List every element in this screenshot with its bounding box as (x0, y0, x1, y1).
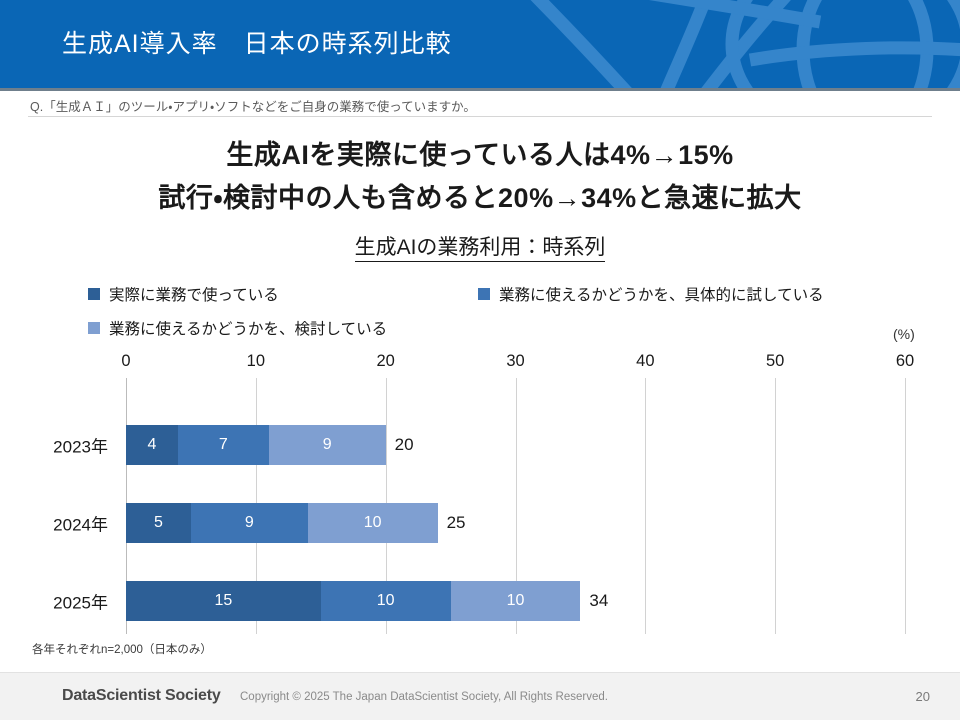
x-axis-tick-label: 40 (636, 352, 654, 371)
legend-label-1: 業務に使えるかどうかを、具体的に試している (499, 283, 824, 305)
legend-item-0: 実際に業務で使っている (88, 283, 279, 305)
x-axis-tick-label: 20 (376, 352, 394, 371)
legend-swatch-0 (88, 288, 100, 300)
bar-value-label: 10 (364, 514, 382, 532)
bar-row: 2023年47920 (0, 414, 960, 476)
headline-line-2: 試行・検討中の人も含めると20%→34%と急速に拡大 (0, 176, 960, 215)
legend-item-2: 業務に使えるかどうかを、検討している (88, 317, 387, 339)
chart-legend: 実際に業務で使っている 業務に使えるかどうかを、具体的に試している 業務に使える… (0, 283, 960, 345)
x-axis-tick-label: 60 (896, 352, 914, 371)
footer-brand: DataScientist Society (62, 687, 221, 705)
chart-title-text: 生成AIの業務利用：時系列 (355, 236, 606, 262)
legend-item-1: 業務に使えるかどうかを、具体的に試している (478, 283, 824, 305)
bar-row: 2025年15101034 (0, 570, 960, 632)
legend-label-2: 業務に使えるかどうかを、検討している (109, 317, 387, 339)
bar-value-label: 4 (148, 436, 157, 454)
bar-category-label: 2024年 (0, 511, 108, 536)
bar-segment[interactable]: 5 (126, 503, 191, 543)
bar-row: 2024年591025 (0, 492, 960, 554)
bar-segment[interactable]: 9 (269, 425, 386, 465)
bar-value-label: 15 (214, 592, 232, 610)
x-axis-tick-label: 50 (766, 352, 784, 371)
bar-value-label: 10 (507, 592, 525, 610)
bar-value-label: 5 (154, 514, 163, 532)
legend-swatch-1 (478, 288, 490, 300)
footer-copyright: Copyright © 2025 The Japan DataScientist… (240, 691, 608, 703)
bar-total-label: 25 (447, 513, 466, 533)
bar-total-label: 20 (395, 435, 414, 455)
stacked-bar[interactable]: 5910 (126, 503, 438, 543)
stacked-bar[interactable]: 479 (126, 425, 386, 465)
chart-footnote: 各年それぞれn=2,000（日本のみ） (32, 641, 212, 657)
slide-root: 生成AI導入率 日本の時系列比較 Q.「生成ＡＩ」のツール・アプリ・ソフトなどを… (0, 0, 960, 720)
globe-arcs-icon (520, 0, 960, 88)
legend-swatch-2 (88, 322, 100, 334)
bar-value-label: 10 (377, 592, 395, 610)
bar-segment[interactable]: 9 (191, 503, 308, 543)
bar-value-label: 9 (323, 436, 332, 454)
bar-value-label: 7 (219, 436, 228, 454)
question-text: Q.「生成ＡＩ」のツール・アプリ・ソフトなどをご自身の業務で使っていますか。 (30, 96, 476, 115)
bar-category-label: 2023年 (0, 433, 108, 458)
bar-segment[interactable]: 10 (451, 581, 581, 621)
x-axis-tick-label: 10 (247, 352, 265, 371)
slide-header: 生成AI導入率 日本の時系列比較 (0, 0, 960, 88)
bar-segment[interactable]: 4 (126, 425, 178, 465)
bar-segment[interactable]: 10 (321, 581, 451, 621)
header-divider (0, 88, 960, 91)
chart-plot-area: 0102030405060 2023年479202024年5910252025年… (0, 352, 960, 634)
page-number: 20 (916, 689, 930, 704)
axis-unit-label: (%) (893, 326, 915, 342)
legend-label-0: 実際に業務で使っている (109, 283, 279, 305)
bar-total-label: 34 (589, 591, 608, 611)
x-axis-tick-label: 30 (506, 352, 524, 371)
bar-segment[interactable]: 10 (308, 503, 438, 543)
stacked-bar[interactable]: 151010 (126, 581, 580, 621)
bar-segment[interactable]: 15 (126, 581, 321, 621)
bar-value-label: 9 (245, 514, 254, 532)
headline-line-1: 生成AIを実際に使っている人は4%→15% (0, 133, 960, 172)
chart-title: 生成AIの業務利用：時系列 (0, 231, 960, 261)
bar-category-label: 2025年 (0, 589, 108, 614)
x-axis-tick-label: 0 (121, 352, 130, 371)
slide-footer: DataScientist Society Copyright © 2025 T… (0, 672, 960, 720)
page-title: 生成AI導入率 日本の時系列比較 (62, 24, 452, 60)
bar-segment[interactable]: 7 (178, 425, 269, 465)
question-divider (28, 116, 932, 117)
